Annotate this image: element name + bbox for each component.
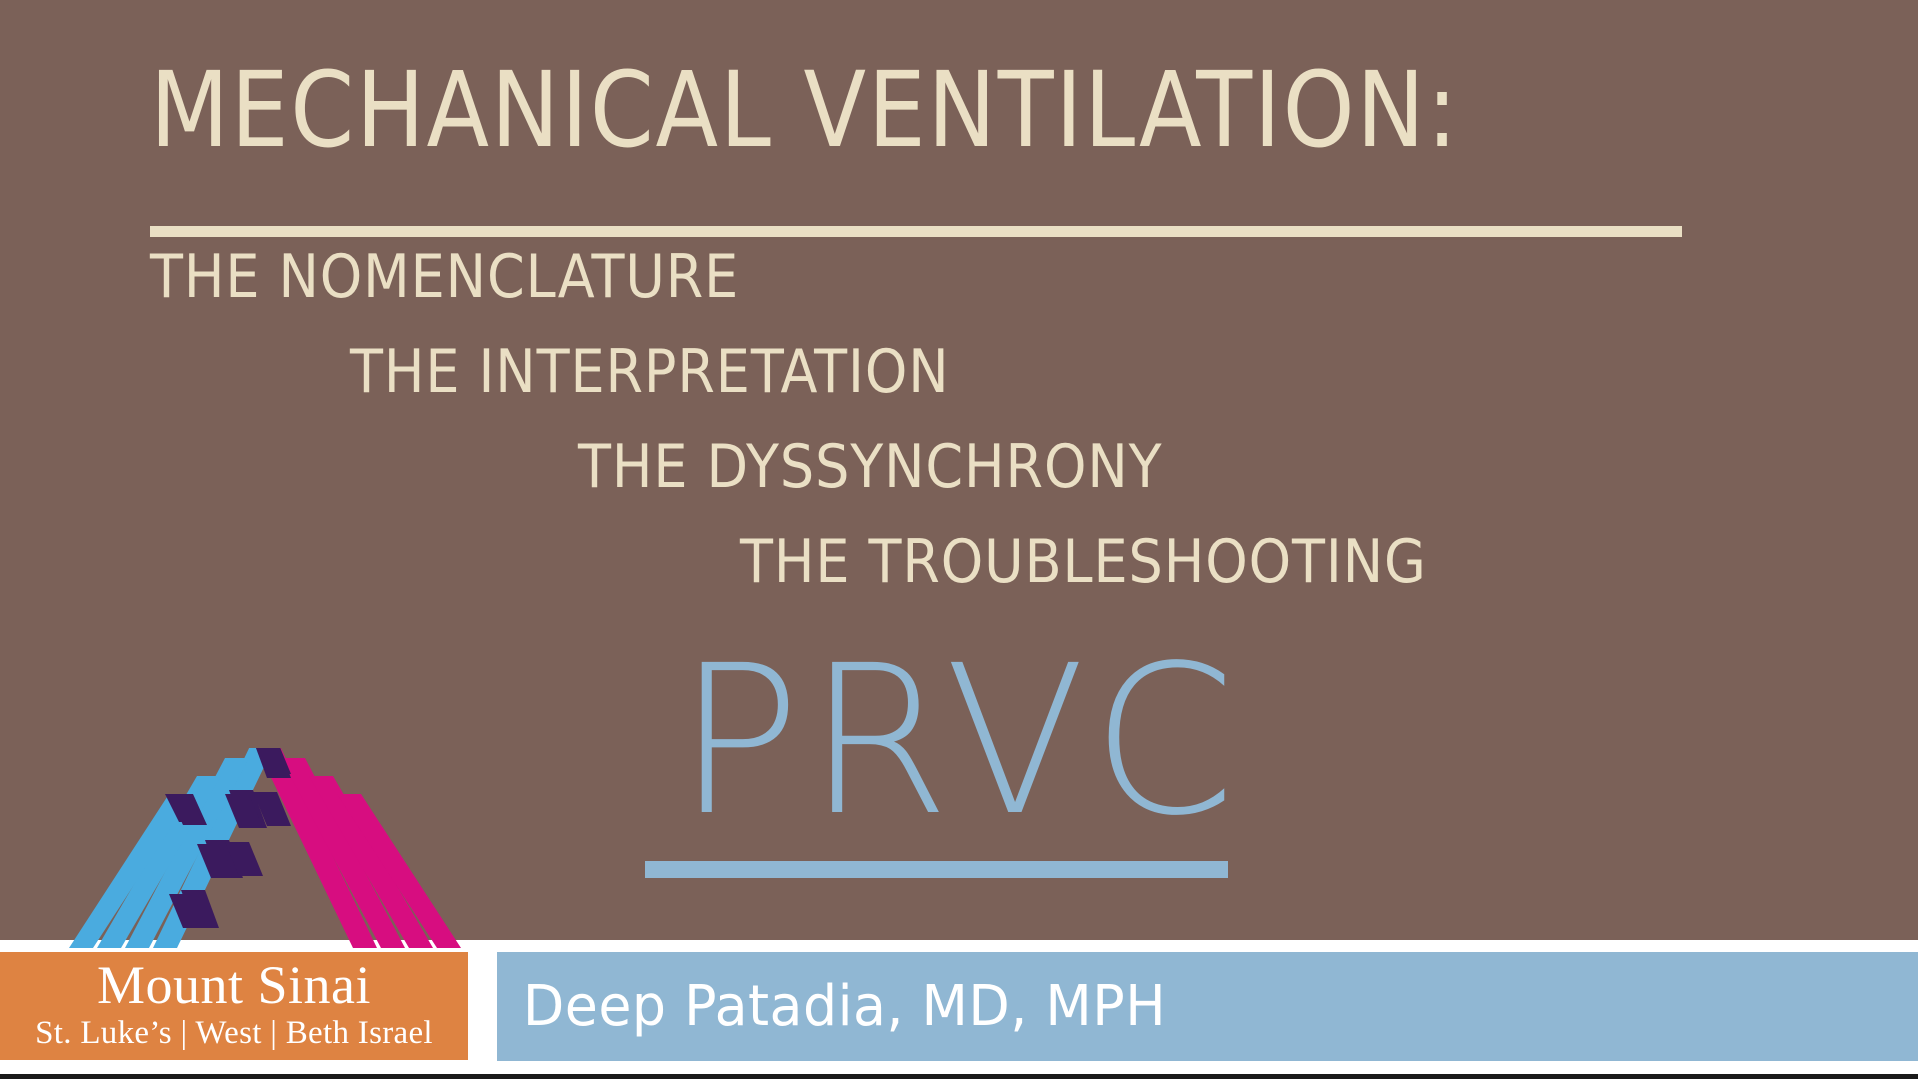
bottom-divider-rule <box>0 1074 1918 1079</box>
subtitle-line-nomenclature: THE NOMENCLATURE <box>0 230 1918 325</box>
mount-sinai-name-plate: Mount Sinai St. Luke’s | West | Beth Isr… <box>0 952 468 1060</box>
subtitle-line-3-text: THE DYSSYNCHRONY <box>578 420 1163 515</box>
subtitle-line-dyssynchrony: THE DYSSYNCHRONY <box>0 420 1918 515</box>
author-bar: Deep Patadia, MD, MPH <box>497 952 1918 1061</box>
mount-sinai-logo: Mount Sinai St. Luke’s | West | Beth Isr… <box>0 748 470 1060</box>
slide-canvas: MECHANICAL VENTILATION: THE NOMENCLATURE… <box>0 0 1918 1080</box>
mount-sinai-chevron-mark-icon <box>0 748 470 948</box>
subtitle-line-4-text: THE TROUBLESHOOTING <box>740 515 1427 610</box>
subtitle-line-2-text: THE INTERPRETATION <box>350 325 950 420</box>
mount-sinai-name: Mount Sinai <box>0 952 468 1014</box>
emphasis-text-prvc: PRVC <box>677 636 1242 846</box>
subtitle-line-troubleshooting: THE TROUBLESHOOTING <box>0 515 1918 610</box>
emphasis-underline <box>645 861 1228 878</box>
author-name: Deep Patadia, MD, MPH <box>497 952 1861 1061</box>
page-title: MECHANICAL VENTILATION: <box>150 58 1459 172</box>
mount-sinai-affiliates: St. Luke’s | West | Beth Israel <box>0 1014 468 1052</box>
subtitle-list: THE NOMENCLATURE THE INTERPRETATION THE … <box>0 230 1918 610</box>
subtitle-line-1-text: THE NOMENCLATURE <box>150 230 739 325</box>
title-block: MECHANICAL VENTILATION: <box>150 58 1770 172</box>
subtitle-line-interpretation: THE INTERPRETATION <box>0 325 1918 420</box>
